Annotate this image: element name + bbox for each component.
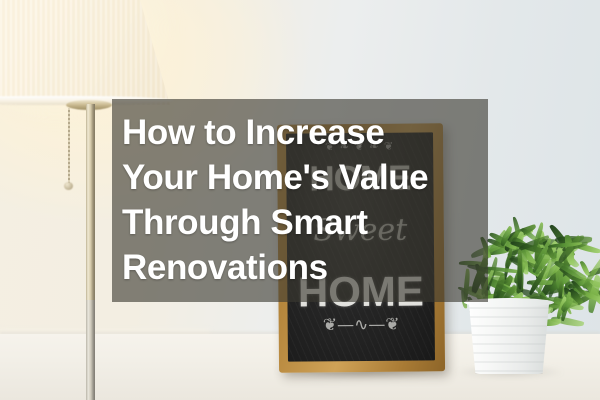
lamp-pole-lower <box>86 300 95 400</box>
lamp-pull-chain <box>68 108 70 184</box>
chalk-flourish-icon: ❦—∿—❦ <box>288 314 435 335</box>
lamp-pull-chain-finial <box>64 182 73 190</box>
page-title: How to Increase Your Home's Value Throug… <box>122 110 492 290</box>
lamp-shade <box>0 0 170 105</box>
hero-image: ♥ ❦ ❧ ❦ ❧ ❦ HOME Sweet HOME ❦—∿—❦ How to… <box>0 0 600 400</box>
plant-pot <box>466 300 552 374</box>
